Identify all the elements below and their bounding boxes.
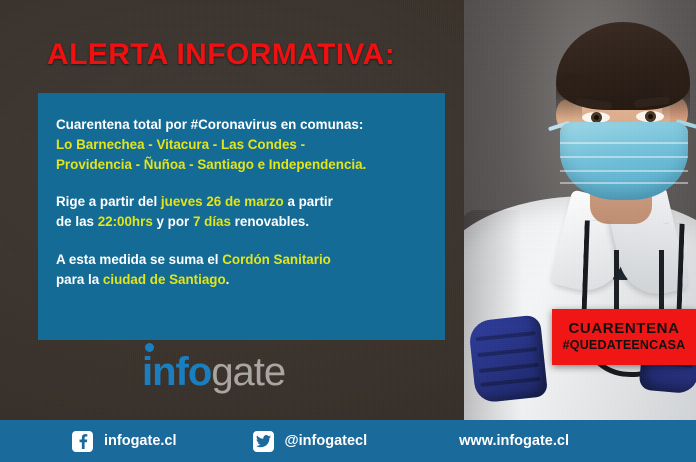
announcement-panel: Cuarentena total por #Coronavirus en com…	[38, 93, 445, 340]
sign-line-2: #QUEDATEENCASA	[563, 339, 686, 353]
announcement-line: A esta medida se suma el Cordón Sanitari…	[56, 250, 427, 270]
announcement-paragraph-2: Rige a partir del jueves 26 de marzo a p…	[56, 192, 427, 232]
announcement-line: Cuarentena total por #Coronavirus en com…	[56, 115, 427, 135]
highlighted-text: ciudad de Santiago	[103, 272, 226, 287]
announcement-text: Cuarentena total por #Coronavirus en com…	[38, 93, 445, 290]
plain-text: .	[226, 272, 230, 287]
alert-poster: CUARENTENA #QUEDATEENCASA ALERTA INFORMA…	[0, 0, 696, 462]
highlighted-text: Lo Barnechea - Vitacura - Las Condes -	[56, 137, 305, 152]
eye-right	[636, 111, 664, 122]
facebook-label: infogate.cl	[104, 433, 177, 449]
announcement-paragraph-3: A esta medida se suma el Cordón Sanitari…	[56, 250, 427, 290]
announcement-line: de las 22:00hrs y por 7 días renovables.	[56, 212, 427, 232]
logo-dot-icon	[145, 343, 154, 352]
website-link[interactable]: www.infogate.cl	[459, 433, 569, 449]
announcement-paragraph-1: Cuarentena total por #Coronavirus en com…	[56, 115, 427, 175]
highlighted-text: Providencia - Ñuñoa - Santiago e Indepen…	[56, 157, 366, 172]
highlighted-text: 22:00hrs	[98, 214, 153, 229]
plain-text: y por	[153, 214, 193, 229]
plain-text: a partir	[284, 194, 333, 209]
website-label: www.infogate.cl	[459, 433, 569, 449]
twitter-link[interactable]: @infogatecl	[253, 431, 368, 452]
facebook-icon	[72, 431, 93, 452]
page-title: ALERTA INFORMATIVA:	[47, 38, 395, 72]
quarantine-sign: CUARENTENA #QUEDATEENCASA	[552, 309, 696, 365]
announcement-line: para la ciudad de Santiago.	[56, 270, 427, 290]
infogate-logo: infogate	[142, 352, 285, 392]
logo-gate-text: gate	[211, 350, 285, 394]
highlighted-text: jueves 26 de marzo	[161, 194, 284, 209]
sign-line-1: CUARENTENA	[569, 321, 680, 337]
plain-text: Rige a partir del	[56, 194, 161, 209]
gloved-hand-left	[468, 314, 548, 403]
plain-text: Cuarentena total por #Coronavirus en com…	[56, 117, 363, 132]
plain-text: A esta medida se suma el	[56, 252, 222, 267]
twitter-label: @infogatecl	[285, 433, 368, 449]
announcement-line: Rige a partir del jueves 26 de marzo a p…	[56, 192, 427, 212]
logo-info-text: info	[142, 350, 211, 394]
announcement-line: Lo Barnechea - Vitacura - Las Condes -	[56, 135, 427, 155]
facebook-link[interactable]: infogate.cl	[72, 431, 177, 452]
social-footer: infogate.cl @infogatecl www.infogate.cl	[0, 420, 696, 462]
plain-text: para la	[56, 272, 103, 287]
highlighted-text: 7 días	[193, 214, 231, 229]
plain-text: de las	[56, 214, 98, 229]
plain-text: renovables.	[231, 214, 309, 229]
hair-fade-left	[556, 74, 582, 120]
highlighted-text: Cordón Sanitario	[222, 252, 331, 267]
twitter-icon	[253, 431, 274, 452]
announcement-line: Providencia - Ñuñoa - Santiago e Indepen…	[56, 155, 427, 175]
